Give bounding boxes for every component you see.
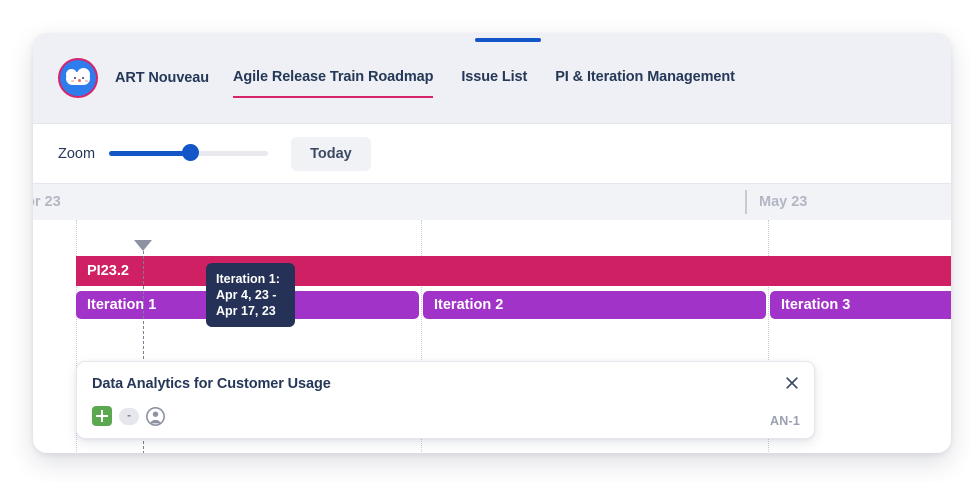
zoom-slider-fill — [109, 151, 192, 156]
iteration-bar-2[interactable]: Iteration 2 — [423, 291, 766, 319]
zoom-slider-knob[interactable] — [182, 144, 199, 161]
iteration-bar-label: Iteration 2 — [434, 297, 503, 313]
timeline: or 23 May 23 PI23.2 Iteration 1 I — [33, 183, 951, 453]
iteration-bar-label: Iteration 1 — [87, 297, 156, 313]
tab-agile-release-train-roadmap[interactable]: Agile Release Train Roadmap — [233, 69, 433, 87]
plus-icon[interactable] — [92, 406, 112, 426]
avatar-icon[interactable] — [146, 407, 165, 426]
issue-card-meta: - — [92, 406, 165, 426]
close-icon[interactable] — [783, 374, 801, 392]
iteration-bar-3[interactable]: Iteration 3 — [770, 291, 951, 319]
issue-card-title: Data Analytics for Customer Usage — [92, 376, 331, 392]
today-marker-icon — [134, 240, 152, 251]
month-label-may: May 23 — [759, 194, 807, 210]
nav-tabs: Agile Release Train Roadmap Issue List P… — [233, 33, 763, 123]
screenshot-root: ART Nouveau Agile Release Train Roadmap … — [0, 0, 971, 482]
window-tab-indicator — [475, 38, 541, 42]
iteration-tooltip: Iteration 1: Apr 4, 23 - Apr 17, 23 — [206, 263, 295, 327]
tooltip-line-title: Iteration 1: — [216, 271, 285, 287]
today-button[interactable]: Today — [291, 137, 371, 171]
zoom-slider[interactable] — [109, 145, 268, 163]
pi-bar-label: PI23.2 — [87, 263, 129, 279]
iteration-row: Iteration 1 Iteration 2 Iteration 3 — [33, 291, 951, 319]
issue-card[interactable]: Data Analytics for Customer Usage - — [76, 361, 815, 439]
tooltip-line-start: Apr 4, 23 - — [216, 287, 285, 303]
zoom-label: Zoom — [58, 146, 95, 162]
brand-name: ART Nouveau — [115, 70, 209, 86]
month-header: or 23 May 23 — [33, 184, 951, 220]
issue-key-label: AN-1 — [770, 414, 800, 428]
app-window: ART Nouveau Agile Release Train Roadmap … — [33, 33, 951, 453]
cloud-face-logo-icon — [58, 58, 98, 98]
toolbar: Zoom Today — [33, 123, 951, 183]
estimate-badge[interactable]: - — [119, 408, 139, 425]
tooltip-line-end: Apr 17, 23 — [216, 303, 285, 319]
iteration-bar-label: Iteration 3 — [781, 297, 850, 313]
tab-pi-iteration-management[interactable]: PI & Iteration Management — [555, 69, 735, 87]
tab-issue-list[interactable]: Issue List — [461, 69, 527, 87]
nav-bar: ART Nouveau Agile Release Train Roadmap … — [33, 33, 951, 123]
month-divider — [745, 190, 747, 214]
month-label-apr: or 23 — [33, 194, 61, 210]
